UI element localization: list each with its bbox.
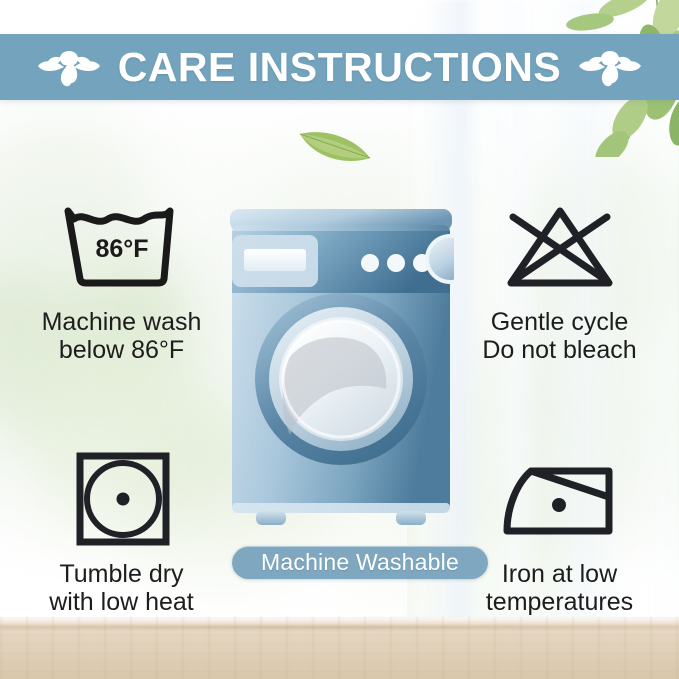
care-item-label: Iron at low temperatures: [486, 560, 633, 616]
care-item-tumble-dry: Tumble dry with low heat: [14, 444, 229, 616]
machine-washable-badge: Machine Washable: [232, 546, 488, 579]
care-instructions-infographic: CARE INSTRUCTIONS 86°F: [0, 0, 679, 679]
iron-one-dot-icon: [497, 444, 623, 554]
svg-text:86°F: 86°F: [95, 235, 148, 263]
care-item-label: Machine wash below 86°F: [42, 308, 202, 364]
care-item-label: Gentle cycle Do not bleach: [482, 308, 636, 364]
care-item-label: Tumble dry with low heat: [49, 560, 194, 616]
care-item-do-not-bleach: Gentle cycle Do not bleach: [452, 192, 667, 364]
tumble-dry-low-icon: [70, 444, 174, 554]
wooden-surface: [0, 617, 679, 679]
fleur-de-lis-right-icon: [579, 45, 641, 89]
care-item-machine-wash: 86°F Machine wash below 86°F: [14, 192, 229, 364]
header-banner: CARE INSTRUCTIONS: [0, 34, 679, 100]
page-title: CARE INSTRUCTIONS: [118, 47, 562, 88]
badge-label: Machine Washable: [261, 551, 459, 574]
triangle-crossed-icon: [499, 192, 621, 302]
care-item-iron-low: Iron at low temperatures: [452, 444, 667, 616]
washing-machine-illustration: [228, 207, 454, 534]
fleur-de-lis-left-icon: [38, 45, 100, 89]
wash-tub-icon: 86°F: [56, 192, 188, 302]
